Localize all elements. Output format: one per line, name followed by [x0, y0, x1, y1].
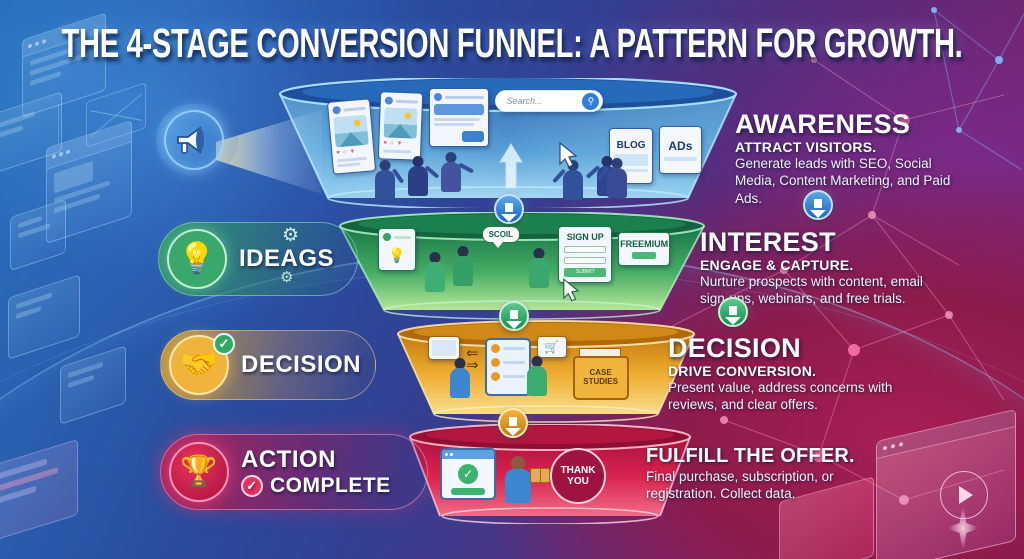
- person-figure: [405, 156, 431, 194]
- lightbulb-icon: 💡: [167, 229, 227, 289]
- scene-action: ✓ THANK YOU: [440, 442, 640, 522]
- thank-you-line-1: THANK: [561, 465, 596, 476]
- search-icon[interactable]: ⚲: [582, 93, 599, 110]
- signup-form-card: SIGN UP SUBMIT: [558, 226, 612, 283]
- social-post-card: ♥○▼: [378, 91, 424, 160]
- stage-title-decision: DECISION: [668, 334, 903, 362]
- stage-text-action: FULFILL THE OFFER. Final purchase, subsc…: [646, 444, 896, 503]
- search-placeholder: Search...: [506, 96, 578, 106]
- stage-body-action: Final purchase, subscription, or registr…: [646, 468, 896, 503]
- person-figure: [438, 152, 464, 194]
- two-people: [447, 358, 473, 398]
- stage-subtitle-action: FULFILL THE OFFER.: [646, 445, 896, 468]
- gear-icon: ⚙: [280, 268, 293, 286]
- connector-arrow-interest-to-decision[interactable]: [499, 301, 529, 331]
- mouse-cursor-icon: [562, 278, 580, 307]
- search-box-wrap: Search... ⚲: [495, 90, 603, 112]
- stage-body-decision: Present value, address concerns with rev…: [668, 379, 903, 414]
- freemium-label: FREEMIUM: [620, 239, 668, 249]
- ads-card-label: ADs: [668, 139, 692, 153]
- social-post-card: ♥○▼: [327, 98, 376, 174]
- two-people: [524, 356, 550, 398]
- stage-sublabel-action-row: ✓ COMPLETE: [241, 474, 391, 498]
- person-figure: [372, 160, 398, 194]
- freemium-card: FREEMIUM: [618, 232, 670, 266]
- ads-card: ADs: [659, 126, 702, 174]
- person-figure: [604, 158, 630, 196]
- infographic-canvas: THE 4-STAGE CONVERSION FUNNEL: A PATTERN…: [0, 0, 1024, 559]
- up-arrow-icon: [498, 142, 524, 195]
- blog-card-label: BLOG: [617, 140, 646, 151]
- thank-you-line-2: YOU: [567, 476, 589, 487]
- success-window: ✓: [440, 448, 496, 500]
- connector-arrow-awareness-right[interactable]: [803, 190, 833, 220]
- scroll-bubble: SCOIL: [482, 226, 520, 243]
- page-title: THE 4-STAGE CONVERSION FUNNEL: A PATTERN…: [15, 22, 1008, 68]
- person-figure: [524, 356, 550, 398]
- stage-subtitle-awareness: ATTRACT VISITORS.: [735, 139, 975, 155]
- stage-badge-awareness: [156, 104, 238, 176]
- connector-arrow-awareness-to-interest[interactable]: [494, 194, 524, 224]
- stage-label-decision: DECISION: [241, 351, 361, 379]
- stage-badge-decision: 🤝 DECISION ✓: [160, 330, 376, 400]
- stage-badge-interest: 💡 IDEAGS: [158, 222, 358, 296]
- package-box-icon: [530, 468, 550, 483]
- trophy-icon: 🏆: [169, 442, 229, 502]
- person-figure: [526, 248, 552, 284]
- people-with-laptops: [422, 246, 476, 286]
- landing-page-card: [429, 88, 490, 147]
- scene-interest: 💡 SCOIL SIGN UP SUBMIT FREEMIUM: [378, 224, 670, 310]
- stage-subtitle-decision: DRIVE CONVERSION.: [668, 363, 903, 379]
- audience-people: [372, 152, 464, 194]
- stage-title-interest: INTEREST: [700, 228, 935, 256]
- stage-text-awareness: AWARENESS ATTRACT VISITORS. Generate lea…: [735, 110, 975, 207]
- idea-bubble-card: 💡: [378, 228, 416, 271]
- chat-bubble-card: [428, 336, 460, 360]
- mouse-cursor-icon: [558, 142, 578, 173]
- signup-submit-button[interactable]: SUBMIT: [564, 268, 606, 277]
- connector-arrow-decision-to-action[interactable]: [498, 408, 528, 438]
- search-input[interactable]: Search... ⚲: [495, 90, 603, 112]
- check-badge-icon: ✓: [213, 333, 235, 355]
- person-figure: [450, 246, 476, 286]
- stage-body-awareness: Generate leads with SEO, Social Media, C…: [735, 155, 975, 207]
- person-with-box: [502, 456, 534, 504]
- stage-subtitle-interest: ENGAGE & CAPTURE.: [700, 257, 935, 273]
- person-figure: [447, 358, 473, 398]
- stage-sublabel-action: COMPLETE: [270, 474, 391, 498]
- gear-icon: ⚙: [282, 224, 299, 247]
- case-studies-folder: CASE STUDIES: [573, 352, 629, 400]
- case-studies-label: CASE STUDIES: [573, 356, 629, 400]
- stage-text-decision: DECISION DRIVE CONVERSION. Present value…: [668, 334, 903, 414]
- megaphone-icon: [164, 110, 224, 170]
- stage-label-action: ACTION: [241, 446, 391, 474]
- signup-title: SIGN UP: [567, 232, 604, 242]
- audience-people: [604, 158, 630, 196]
- stage-title-awareness: AWARENESS: [735, 110, 975, 138]
- cart-bubble: 🛒: [537, 336, 567, 358]
- check-icon: ✓: [458, 464, 478, 484]
- thank-you-bubble: THANK YOU: [550, 448, 606, 504]
- people-with-laptops: [526, 248, 552, 284]
- stage-badge-action: 🏆 ACTION ✓ COMPLETE: [160, 434, 428, 510]
- stage-text-interest: INTEREST ENGAGE & CAPTURE. Nurture prosp…: [700, 228, 935, 308]
- connector-arrow-interest-right[interactable]: [718, 297, 748, 327]
- check-badge-icon: ✓: [241, 475, 263, 497]
- person-figure: [422, 252, 448, 286]
- scroll-bubble-label: SCOIL: [489, 230, 513, 239]
